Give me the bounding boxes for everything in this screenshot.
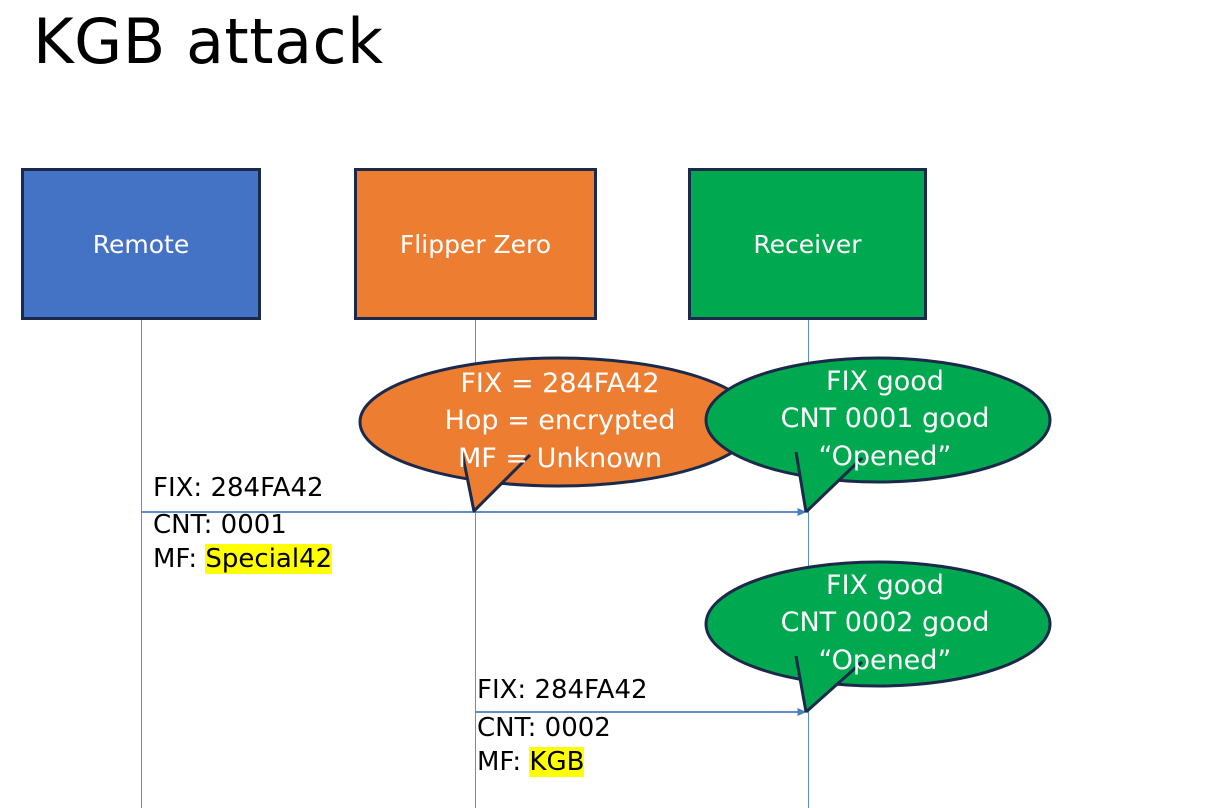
actor-label-receiver: Receiver xyxy=(753,230,861,259)
message-1-mf-value: Special42 xyxy=(205,544,332,574)
bubble-receiver-2-line-2: CNT 0002 good xyxy=(740,604,1030,641)
message-1-cnt-label: CNT: 0001 xyxy=(153,508,332,542)
bubble-flipper-line-3: MF = Unknown xyxy=(400,440,720,477)
actor-label-remote: Remote xyxy=(93,230,189,259)
actor-box-flipper[interactable]: Flipper Zero xyxy=(354,168,597,320)
speech-bubble-receiver-1-text: FIX good CNT 0001 good “Opened” xyxy=(740,363,1030,475)
message-1-detail: CNT: 0001 MF: Special42 xyxy=(153,508,332,577)
actor-label-flipper: Flipper Zero xyxy=(400,230,551,259)
bubble-receiver-2-line-1: FIX good xyxy=(740,567,1030,604)
message-2-mf-row: MF: KGB xyxy=(477,745,611,779)
bubble-receiver-2-line-3: “Opened” xyxy=(740,642,1030,679)
speech-bubble-flipper-text: FIX = 284FA42 Hop = encrypted MF = Unkno… xyxy=(400,365,720,477)
message-1-mf-prefix: MF: xyxy=(153,544,205,574)
message-2-cnt-label: CNT: 0002 xyxy=(477,711,611,745)
message-2-fix-label: FIX: 284FA42 xyxy=(477,673,648,707)
bubble-receiver-1-line-3: “Opened” xyxy=(740,438,1030,475)
message-2-mf-prefix: MF: xyxy=(477,747,529,777)
message-2-mf-value: KGB xyxy=(529,747,584,777)
actor-box-receiver[interactable]: Receiver xyxy=(688,168,927,320)
message-1-mf-row: MF: Special42 xyxy=(153,542,332,576)
message-2-detail: CNT: 0002 MF: KGB xyxy=(477,711,611,780)
speech-bubble-receiver-2-text: FIX good CNT 0002 good “Opened” xyxy=(740,567,1030,679)
actor-box-remote[interactable]: Remote xyxy=(21,168,261,320)
bubble-flipper-line-2: Hop = encrypted xyxy=(400,402,720,439)
message-1-fix-label: FIX: 284FA42 xyxy=(153,471,324,505)
slide-canvas: KGB attack Remote Flipper Zero Receiver xyxy=(0,0,1218,808)
bubble-receiver-1-line-1: FIX good xyxy=(740,363,1030,400)
lifeline-remote xyxy=(141,320,142,808)
bubble-flipper-line-1: FIX = 284FA42 xyxy=(400,365,720,402)
bubble-receiver-1-line-2: CNT 0001 good xyxy=(740,400,1030,437)
page-title: KGB attack xyxy=(33,8,384,76)
